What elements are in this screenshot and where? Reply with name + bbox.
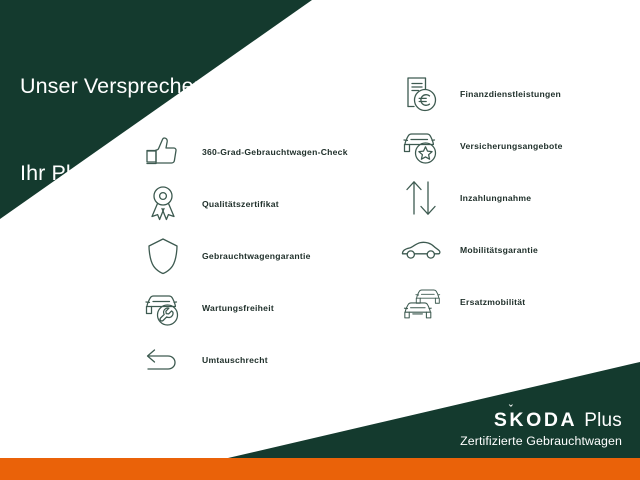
car-wrench-icon [140, 285, 186, 331]
award-rosette-icon [140, 181, 186, 227]
feature-label: Qualitätszertifikat [202, 199, 279, 209]
feature-label: Finanzdienstleistungen [460, 89, 561, 99]
headline-line-1: Unser Versprechen. [20, 72, 212, 101]
feature-label: Ersatzmobilität [460, 297, 525, 307]
orange-footer-bar [0, 458, 640, 480]
feature-item-warranty: Gebrauchtwagengarantie [140, 230, 311, 282]
shield-icon [140, 233, 186, 279]
promo-slide: Unser Versprechen. Ihr Plus. 360-Grad-Ge… [0, 0, 640, 480]
feature-item-check: 360-Grad-Gebrauchtwagen-Check [140, 126, 348, 178]
car-side-icon [398, 227, 444, 273]
logo-tagline: Zertifizierte Gebrauchtwagen [460, 435, 622, 447]
feature-label: Mobilitätsgarantie [460, 245, 538, 255]
two-cars-icon [398, 279, 444, 325]
feature-item-quality-certificate: Qualitätszertifikat [140, 178, 279, 230]
brand-logo: ˇ SKODA Plus Zertifizierte Gebrauchtwage… [460, 411, 622, 447]
logo-suffix-text: Plus [584, 411, 622, 430]
feature-item-mobility-guarantee: Mobilitätsgarantie [398, 224, 538, 276]
feature-label: 360-Grad-Gebrauchtwagen-Check [202, 147, 348, 157]
return-arrow-icon [140, 337, 186, 383]
document-euro-icon [398, 71, 444, 117]
feature-label: Umtauschrecht [202, 355, 268, 365]
feature-item-replacement-mobility: Ersatzmobilität [398, 276, 525, 328]
feature-item-trade-in: Inzahlungnahme [398, 172, 531, 224]
logo-skoda-wordmark: ˇ SKODA [494, 411, 577, 431]
feature-label: Versicherungsangebote [460, 141, 563, 151]
feature-label: Wartungsfreiheit [202, 303, 274, 313]
car-star-icon [398, 123, 444, 169]
feature-label: Inzahlungnahme [460, 193, 531, 203]
feature-label: Gebrauchtwagengarantie [202, 251, 311, 261]
logo-caron-accent: ˇ [509, 405, 513, 416]
up-down-arrows-icon [398, 175, 444, 221]
logo-brand-text: SKODA [494, 409, 577, 431]
feature-item-financial-services: Finanzdienstleistungen [398, 68, 561, 120]
feature-item-return-right: Umtauschrecht [140, 334, 268, 386]
logo-primary-line: ˇ SKODA Plus [460, 411, 622, 431]
feature-item-maintenance-free: Wartungsfreiheit [140, 282, 274, 334]
feature-item-insurance-offers: Versicherungsangebote [398, 120, 563, 172]
thumbs-up-icon [140, 129, 186, 175]
